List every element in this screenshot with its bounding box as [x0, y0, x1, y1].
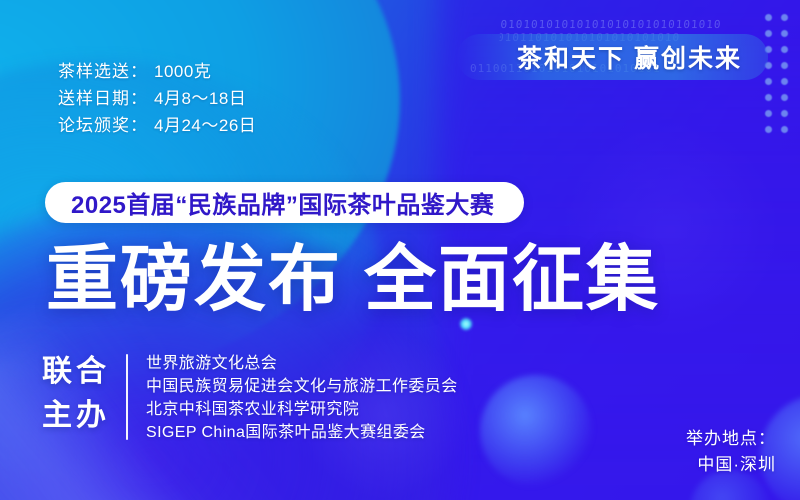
- organizers-heading-line-1: 联合: [42, 350, 110, 394]
- headline-part-2: 全面征集: [364, 240, 660, 320]
- info-value: 4月8～18日: [154, 85, 246, 112]
- slogan-banner: 茶和天下 赢创未来: [457, 34, 768, 80]
- event-title-pill: 2025首届“民族品牌”国际茶叶品鉴大赛: [45, 182, 524, 223]
- info-label: 论坛颁奖：: [58, 112, 148, 139]
- organizers-heading: 联合 主办: [42, 350, 126, 444]
- info-label: 茶样选送：: [58, 58, 148, 85]
- poster-content: 茶和天下 赢创未来 茶样选送： 1000克 送样日期： 4月8～18日 论坛颁奖…: [0, 0, 800, 500]
- promo-poster: 01010101010101010101010101010 1010110101…: [0, 0, 800, 500]
- event-title-text: 2025首届“民族品牌”国际茶叶品鉴大赛: [71, 185, 494, 220]
- organizers-block: 联合 主办 世界旅游文化总会 中国民族贸易促进会文化与旅游工作委员会 北京中科国…: [42, 350, 458, 444]
- organizer-name: 中国民族贸易促进会文化与旅游工作委员会: [146, 375, 458, 398]
- slogan-text: 茶和天下 赢创未来: [517, 39, 742, 75]
- venue-value: 中国·深圳: [686, 452, 776, 478]
- event-info-list: 茶样选送： 1000克 送样日期： 4月8～18日 论坛颁奖： 4月24～26日: [58, 58, 256, 139]
- headline: 重磅发布全面征集: [46, 238, 660, 322]
- venue-block: 举办地点： 中国·深圳: [686, 426, 776, 478]
- organizer-name: SIGEP China国际茶叶品鉴大赛组委会: [146, 421, 458, 444]
- organizers-divider: [126, 354, 128, 440]
- info-label: 送样日期：: [58, 85, 148, 112]
- info-value: 4月24～26日: [154, 112, 256, 139]
- organizer-name: 世界旅游文化总会: [146, 352, 458, 375]
- headline-part-1: 重磅发布: [46, 240, 342, 320]
- info-value: 1000克: [154, 58, 211, 85]
- venue-label: 举办地点：: [686, 426, 776, 452]
- organizers-heading-line-2: 主办: [42, 394, 110, 438]
- info-row: 论坛颁奖： 4月24～26日: [58, 112, 256, 139]
- info-row: 茶样选送： 1000克: [58, 58, 256, 85]
- info-row: 送样日期： 4月8～18日: [58, 85, 256, 112]
- organizer-name: 北京中科国茶农业科学研究院: [146, 398, 458, 421]
- organizers-name-list: 世界旅游文化总会 中国民族贸易促进会文化与旅游工作委员会 北京中科国茶农业科学研…: [146, 350, 458, 444]
